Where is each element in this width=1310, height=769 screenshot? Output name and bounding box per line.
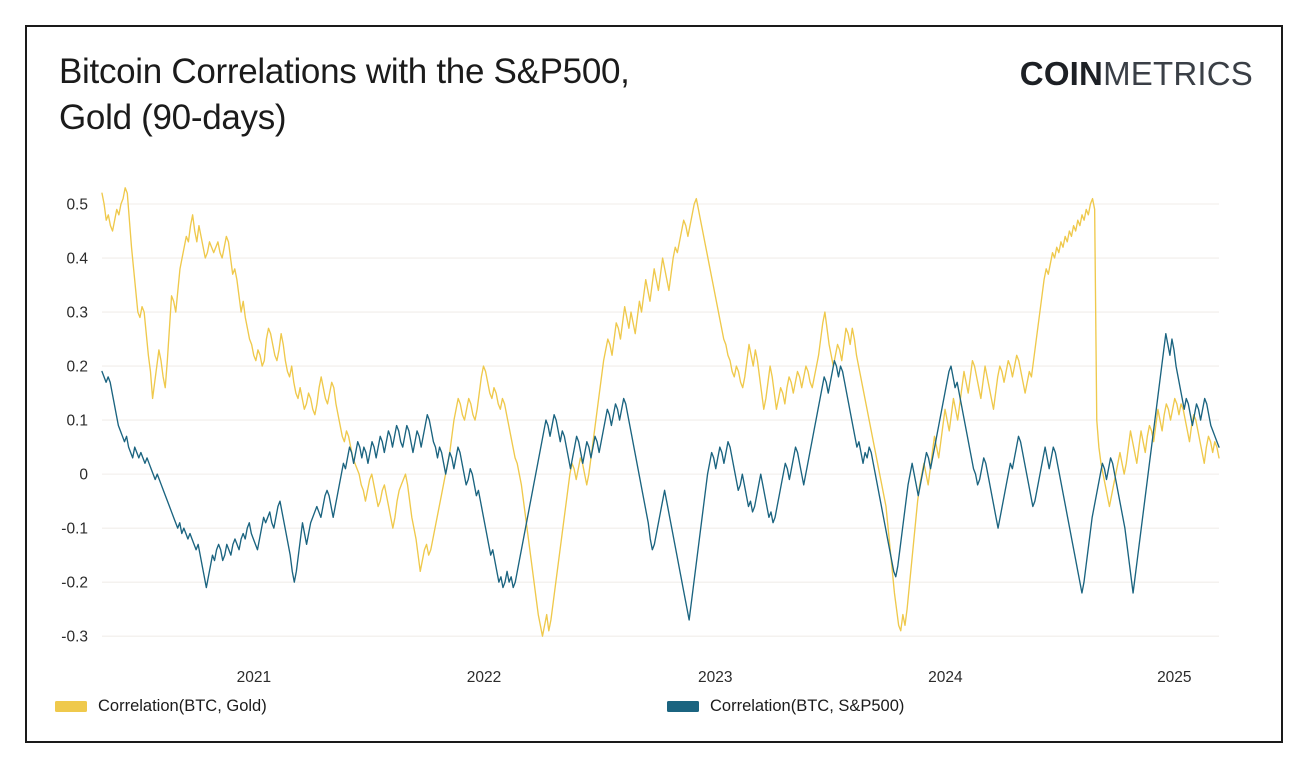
x-axis-tick-label: 2024 <box>928 669 963 686</box>
legend-swatch-sp500 <box>667 701 699 712</box>
legend-label-gold: Correlation(BTC, Gold) <box>98 697 267 716</box>
legend-label-sp500: Correlation(BTC, S&P500) <box>710 697 904 716</box>
chart-svg: 0.50.40.30.20.10-0.1-0.2-0.3202120222023… <box>27 27 1283 743</box>
legend-item-gold[interactable]: Correlation(BTC, Gold) <box>55 697 267 716</box>
y-axis-tick-label: 0.2 <box>66 359 88 376</box>
chart-card: Bitcoin Correlations with the S&P500, Go… <box>25 25 1283 743</box>
series-line-sp500 <box>102 334 1219 620</box>
legend-item-sp500[interactable]: Correlation(BTC, S&P500) <box>667 697 904 716</box>
y-axis-tick-label: 0.4 <box>66 251 88 268</box>
x-axis-tick-label: 2023 <box>698 669 732 686</box>
y-axis-tick-label: -0.3 <box>61 629 88 646</box>
y-axis-tick-label: 0.1 <box>66 413 88 430</box>
plot-area: 0.50.40.30.20.10-0.1-0.2-0.3202120222023… <box>27 27 1283 743</box>
x-axis-tick-label: 2025 <box>1157 669 1191 686</box>
y-axis-tick-label: -0.2 <box>61 575 88 592</box>
chart-legend: Correlation(BTC, Gold) Correlation(BTC, … <box>27 697 1283 723</box>
y-axis-tick-label: -0.1 <box>61 521 88 538</box>
y-axis-tick-label: 0.3 <box>66 305 88 322</box>
x-axis-tick-label: 2021 <box>237 669 271 686</box>
y-axis-tick-label: 0 <box>79 467 88 484</box>
y-axis-tick-label: 0.5 <box>66 197 88 214</box>
series-line-gold <box>102 188 1219 636</box>
x-axis-tick-label: 2022 <box>467 669 501 686</box>
legend-swatch-gold <box>55 701 87 712</box>
